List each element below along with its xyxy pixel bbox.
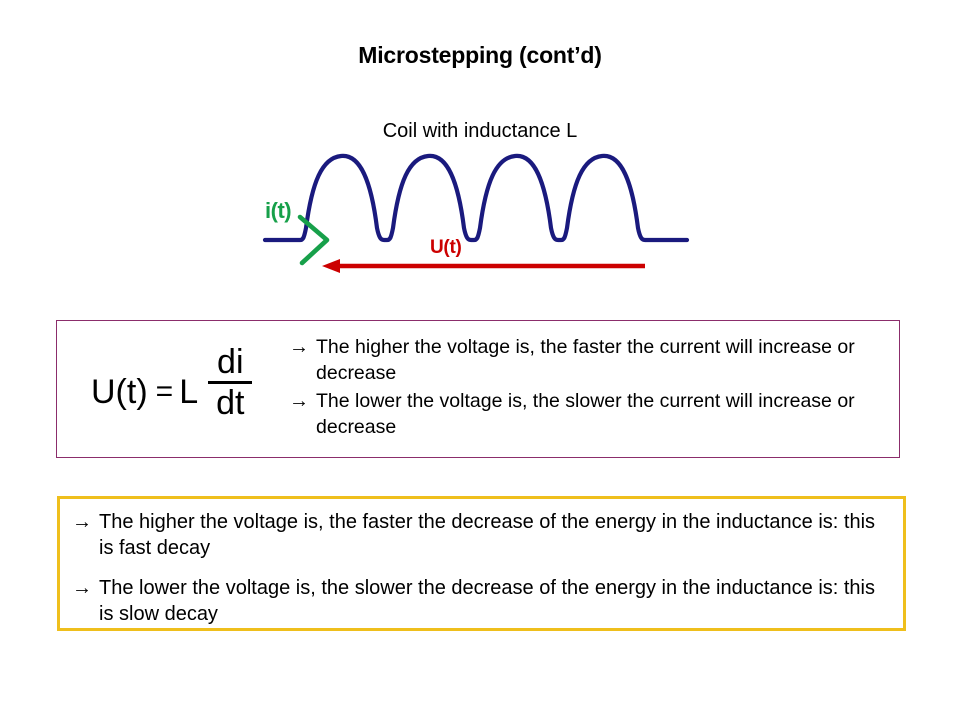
voltage-label: U(t) [430,237,462,259]
list-item: → The lower the voltage is, the slower t… [289,388,889,440]
current-label: i(t) [265,198,291,224]
list-item: → The higher the voltage is, the faster … [72,509,892,561]
formula-lhs: U(t) [91,357,148,409]
arrow-bullet-icon: → [72,575,99,601]
list-item: → The lower the voltage is, the slower t… [72,575,892,627]
formula-fraction: di dt [208,345,252,420]
left-arrow-icon [322,259,340,273]
formula-equals: = [148,359,180,407]
list-item-text: The lower the voltage is, the slower the… [316,388,889,440]
list-item-text: The higher the voltage is, the faster th… [99,509,892,561]
arrow-bullet-icon: → [289,334,316,360]
formula-bullet-list: → The higher the voltage is, the faster … [289,334,889,442]
decay-box: → The higher the voltage is, the faster … [57,496,906,631]
arrow-bullet-icon: → [289,388,316,414]
formula-denominator: dt [208,384,252,421]
page-title: Microstepping (cont’d) [0,42,960,69]
list-item-text: The higher the voltage is, the faster th… [316,334,889,386]
inductor-voltage-formula: U(t) = L di dt [91,345,252,420]
formula-numerator: di [209,345,251,381]
formula-box: U(t) = L di dt → The higher the voltage … [56,320,900,458]
inductor-coil-icon [0,110,960,295]
list-item-text: The lower the voltage is, the slower the… [99,575,892,627]
arrow-bullet-icon: → [72,509,99,535]
list-item: → The higher the voltage is, the faster … [289,334,889,386]
coil-diagram: Coil with inductance L i(t) U(t) [0,110,960,295]
decay-bullet-list: → The higher the voltage is, the faster … [72,509,892,641]
formula-coefficient: L [179,357,208,409]
